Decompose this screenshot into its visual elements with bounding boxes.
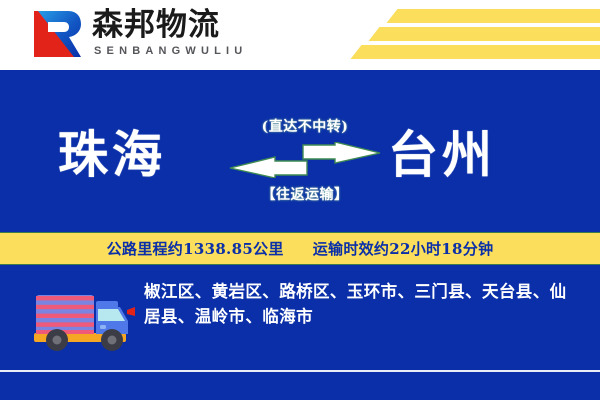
route-banner: 珠海 (直达不中转) 【往返运输】 台州 <box>0 70 600 232</box>
route-info-text: 公路里程约1338.85公里 运输时效约22小时18分钟 <box>107 238 494 259</box>
duration-label: 运输时效约22小时18分钟 <box>313 240 494 258</box>
coverage-section: 椒江区、黄岩区、路桥区、玉环市、三门县、天台县、仙居县、温岭市、临海市 <box>0 265 600 400</box>
direct-route-note: (直达不中转) <box>225 116 385 136</box>
destination-city-label: 台州 <box>388 115 496 187</box>
logistics-route-poster: 森邦物流 SENBANGWULIU 珠海 (直达不中转) 【往返运输】 台州 公… <box>0 0 600 400</box>
header-stripe-1 <box>387 9 600 23</box>
brand-name-en: SENBANGWULIU <box>94 45 247 57</box>
route-info-bar: 公路里程约1338.85公里 运输时效约22小时18分钟 <box>0 232 600 265</box>
delivery-truck-icon <box>28 283 136 355</box>
double-headed-arrow-icon <box>225 142 385 178</box>
header-bar: 森邦物流 SENBANGWULIU <box>0 0 600 70</box>
district-coverage-list: 椒江区、黄岩区、路桥区、玉环市、三门县、天台县、仙居县、温岭市、临海市 <box>144 279 576 329</box>
header-stripe-2 <box>369 27 600 41</box>
bottom-divider <box>0 370 600 372</box>
route-center-block: (直达不中转) 【往返运输】 <box>225 70 385 232</box>
round-trip-note: 【往返运输】 <box>225 184 385 204</box>
origin-city-label: 珠海 <box>58 115 166 187</box>
senbang-r-logo-icon <box>28 9 82 59</box>
distance-label: 公路里程约1338.85公里 <box>107 240 284 258</box>
header-stripe-3 <box>351 45 600 59</box>
brand-name-cn: 森邦物流 <box>92 8 220 42</box>
